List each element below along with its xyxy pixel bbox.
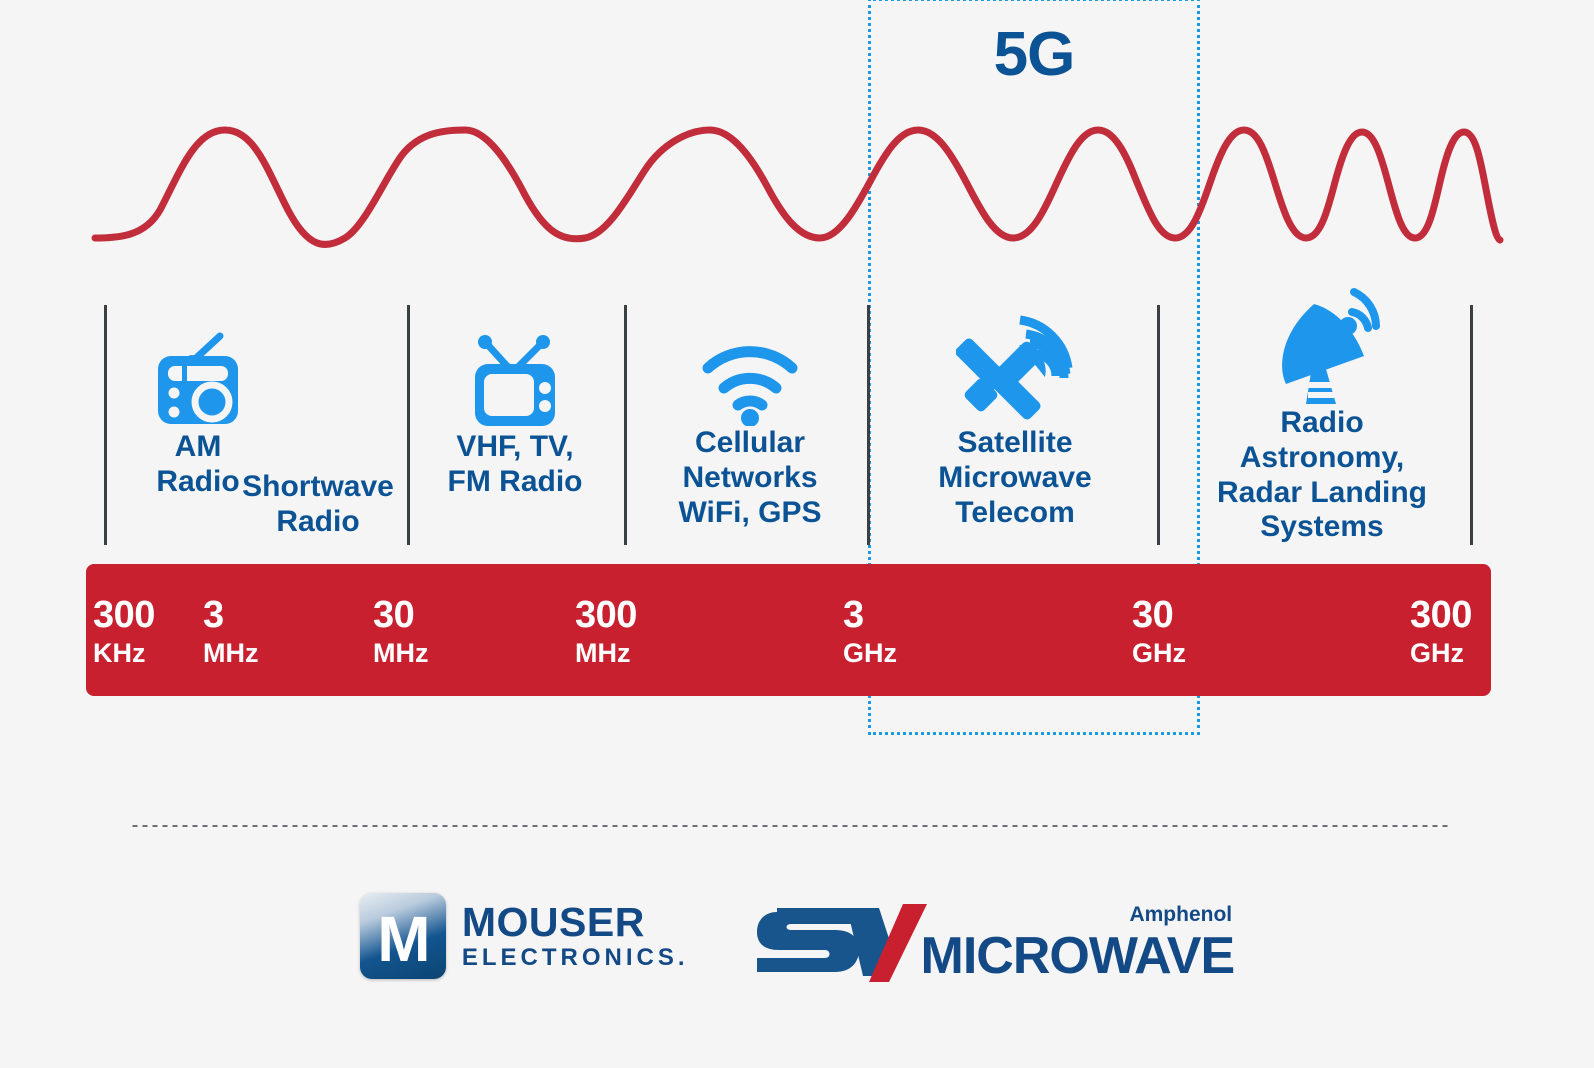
band-label-line1: AM xyxy=(118,430,278,465)
freq-tick-30ghz: 30 GHz xyxy=(1132,596,1186,667)
freq-value: 30 xyxy=(373,596,429,634)
band-divider-tick-3 xyxy=(624,305,627,545)
section-divider xyxy=(130,824,1450,828)
freq-tick-300khz: 300 KHz xyxy=(93,596,155,667)
mouser-mark-letter: M xyxy=(377,907,428,971)
band-vhf-tv-fm-radio: VHF, TV, FM Radio xyxy=(425,330,605,500)
satellite-dish-icon xyxy=(1262,282,1382,406)
frequency-scale-bar xyxy=(86,564,1491,696)
band-satellite-microwave-telecom: Satellite Microwave Telecom xyxy=(925,308,1105,530)
microwave-label: MICROWAVE xyxy=(921,927,1235,985)
freq-value: 300 xyxy=(575,596,637,634)
sv-mark-icon xyxy=(751,890,927,982)
band-label-line4: Systems xyxy=(1204,510,1440,545)
freq-unit: MHz xyxy=(203,640,259,667)
band-label-line3: WiFi, GPS xyxy=(660,496,840,531)
band-label-line1: Satellite xyxy=(925,426,1105,461)
band-label-line1: VHF, TV, xyxy=(425,430,605,465)
band-divider-tick-5 xyxy=(1157,305,1160,545)
freq-unit: GHz xyxy=(843,640,897,667)
band-divider-tick-6 xyxy=(1470,305,1473,545)
freq-value: 300 xyxy=(93,596,155,634)
freq-unit: GHz xyxy=(1132,640,1186,667)
mouser-m-mark-icon: M xyxy=(360,893,446,979)
logo-row: M MOUSER ELECTRONICS. Amphenol MICROWAVE xyxy=(0,890,1594,982)
freq-value: 3 xyxy=(203,596,259,634)
band-label-line3: Radar Landing xyxy=(1204,476,1440,511)
band-label-line2: Microwave xyxy=(925,461,1105,496)
freq-unit: MHz xyxy=(575,640,637,667)
band-cellular-wifi-gps: Cellular Networks WiFi, GPS xyxy=(660,330,840,530)
band-label-line2: Radio xyxy=(228,505,408,540)
television-icon xyxy=(467,330,563,430)
freq-value: 300 xyxy=(1410,596,1472,634)
freq-value: 3 xyxy=(843,596,897,634)
freq-tick-3ghz: 3 GHz xyxy=(843,596,897,667)
freq-unit: KHz xyxy=(93,640,155,667)
band-label-line1: Radio xyxy=(1204,406,1440,441)
freq-tick-3mhz: 3 MHz xyxy=(203,596,259,667)
sv-microwave-wordmark: Amphenol MICROWAVE xyxy=(921,930,1235,982)
wifi-icon xyxy=(700,330,800,426)
band-label-line1: Shortwave xyxy=(228,470,408,505)
band-label-line3: Telecom xyxy=(925,496,1105,531)
band-divider-tick-1 xyxy=(104,305,107,545)
fiveg-label: 5G xyxy=(868,24,1200,86)
mouser-subtitle: ELECTRONICS. xyxy=(462,946,689,970)
mouser-electronics-logo: M MOUSER ELECTRONICS. xyxy=(360,893,689,979)
freq-tick-300ghz: 300 GHz xyxy=(1410,596,1472,667)
freq-value: 30 xyxy=(1132,596,1186,634)
band-divider-tick-4 xyxy=(867,305,870,545)
freq-unit: GHz xyxy=(1410,640,1472,667)
amphenol-label: Amphenol xyxy=(1129,904,1232,925)
mouser-wordmark: MOUSER ELECTRONICS. xyxy=(462,902,689,970)
mouser-name: MOUSER xyxy=(462,902,689,943)
infographic-canvas: 5G AM Radio Shortwave Radio xyxy=(0,0,1594,1068)
band-label-line1: Cellular xyxy=(660,426,840,461)
satellite-icon xyxy=(956,308,1074,426)
frequency-waveform xyxy=(0,100,1594,260)
freq-tick-300mhz: 300 MHz xyxy=(575,596,637,667)
freq-tick-30mhz: 30 MHz xyxy=(373,596,429,667)
freq-unit: MHz xyxy=(373,640,429,667)
band-label-line2: Networks xyxy=(660,461,840,496)
radio-icon xyxy=(152,330,244,430)
band-label-line2: Astronomy, xyxy=(1204,441,1440,476)
band-radio-astronomy-radar: Radio Astronomy, Radar Landing Systems xyxy=(1204,282,1440,545)
band-label-line2: FM Radio xyxy=(425,465,605,500)
band-shortwave-radio: Shortwave Radio xyxy=(228,470,408,540)
sv-microwave-logo: Amphenol MICROWAVE xyxy=(751,890,1235,982)
